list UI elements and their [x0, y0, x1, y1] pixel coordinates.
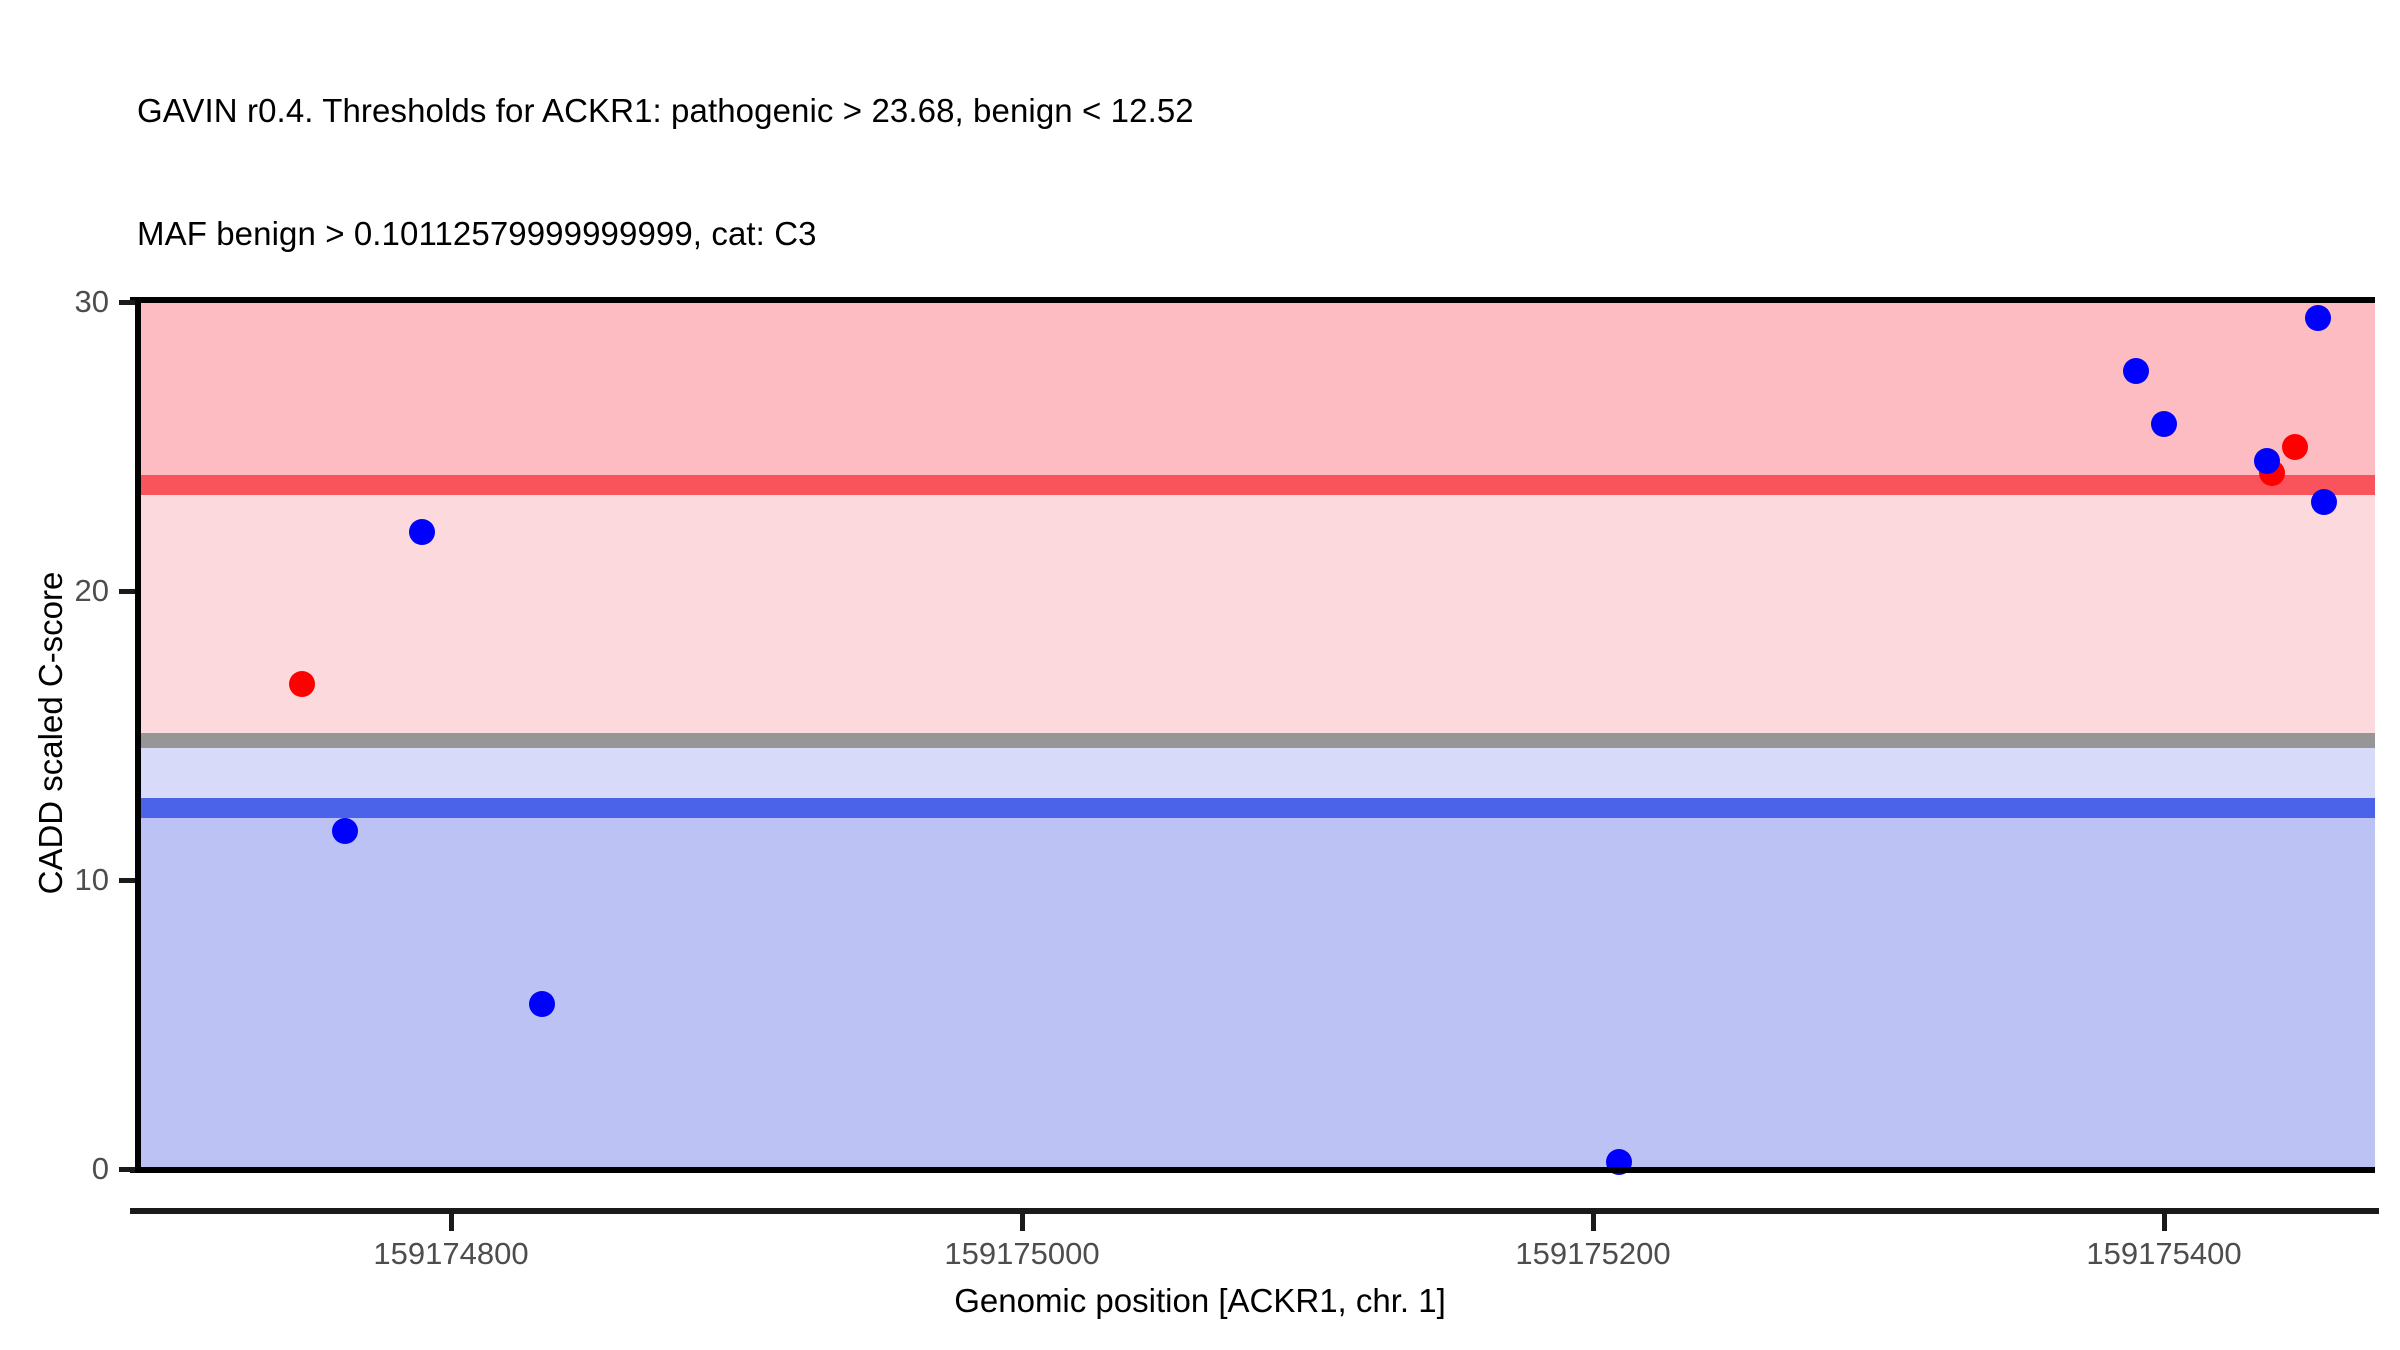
- threshold-line-benign: [137, 798, 2375, 818]
- x-tick-1: [449, 1214, 454, 1231]
- axis-bottom-line: [130, 1167, 2375, 1173]
- y-axis-title: CADD scaled C-score: [32, 333, 70, 1133]
- data-point-blue[interactable]: [409, 519, 435, 545]
- x-tick-label-3: 159175200: [1463, 1236, 1723, 1272]
- x-axis-line: [130, 1208, 2379, 1214]
- data-point-red[interactable]: [2282, 434, 2308, 460]
- chart-root: GAVIN r0.4. Thresholds for ACKR1: pathog…: [0, 0, 2400, 1350]
- x-tick-label-2: 159175000: [892, 1236, 1152, 1272]
- axis-top-line: [130, 297, 2375, 303]
- title-line-1: GAVIN r0.4. Thresholds for ACKR1: pathog…: [137, 90, 2337, 131]
- x-tick-2: [1020, 1214, 1025, 1231]
- x-tick-label-1: 159174800: [321, 1236, 581, 1272]
- y-tick-10: [119, 878, 135, 883]
- x-axis-title: Genomic position [ACKR1, chr. 1]: [0, 1282, 2400, 1320]
- y-tick-label-0: 0: [19, 1151, 109, 1187]
- data-point-blue[interactable]: [2151, 411, 2177, 437]
- band-pathogenic-strong: [137, 302, 2375, 485]
- data-point-blue[interactable]: [2123, 358, 2149, 384]
- band-fallback-grey: [137, 733, 2375, 747]
- plot-panel: [137, 302, 2375, 1170]
- y-tick-20: [119, 589, 135, 594]
- title-line-2: MAF benign > 0.10112579999999999, cat: C…: [137, 213, 2337, 254]
- y-tick-label-30: 30: [19, 284, 109, 320]
- band-benign-strong: [137, 808, 2375, 1170]
- data-point-blue[interactable]: [2254, 448, 2280, 474]
- axis-left-line: [135, 297, 141, 1173]
- threshold-line-pathogenic: [137, 475, 2375, 495]
- band-pathogenic-weak: [137, 485, 2375, 733]
- data-point-blue[interactable]: [332, 818, 358, 844]
- data-point-blue[interactable]: [2311, 489, 2337, 515]
- x-tick-3: [1591, 1214, 1596, 1231]
- y-tick-30: [119, 300, 135, 305]
- y-tick-0: [119, 1167, 135, 1172]
- data-point-blue[interactable]: [529, 991, 555, 1017]
- data-point-blue[interactable]: [2305, 305, 2331, 331]
- x-tick-label-4: 159175400: [2034, 1236, 2294, 1272]
- x-tick-4: [2162, 1214, 2167, 1231]
